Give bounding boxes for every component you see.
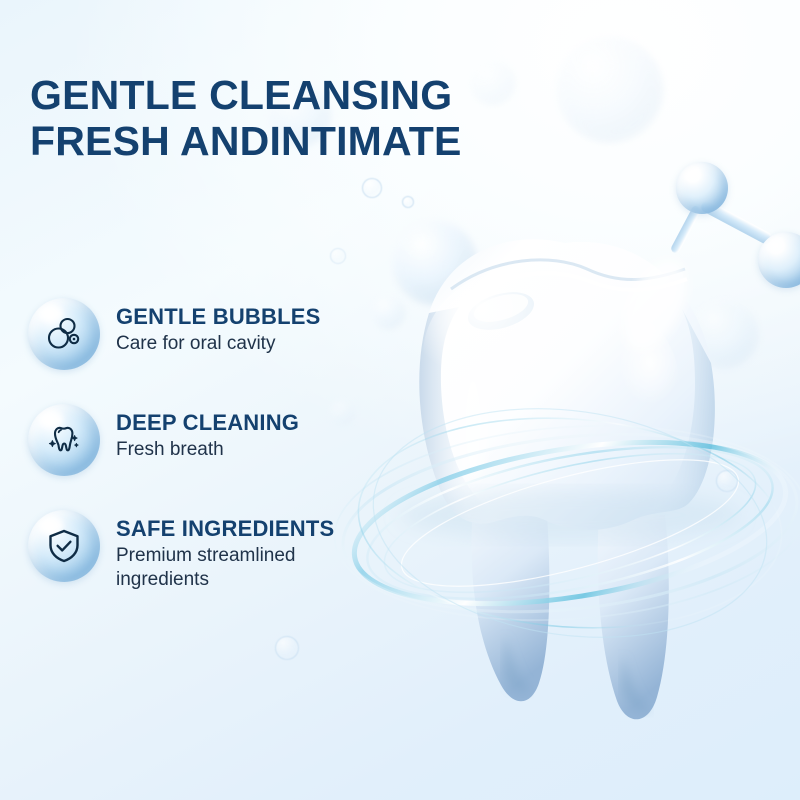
feature-item-gentle-bubbles: GENTLE BUBBLES Care for oral cavity — [28, 298, 428, 370]
feature-text: GENTLE BUBBLES Care for oral cavity — [116, 298, 320, 356]
tooth-sparkle-icon — [43, 419, 85, 461]
headline-line-1: GENTLE CLEANSING — [30, 72, 670, 118]
feature-title: GENTLE BUBBLES — [116, 304, 320, 329]
feature-list: GENTLE BUBBLES Care for oral cavity DEEP… — [28, 298, 428, 592]
background-bubble — [402, 196, 414, 208]
feature-subtitle: Premium streamlined ingredients — [116, 544, 366, 592]
headline-line-2: FRESH ANDINTIMATE — [30, 118, 670, 164]
tooth-sparkle-icon-badge — [28, 404, 100, 476]
feature-title: DEEP CLEANING — [116, 410, 299, 435]
shield-check-icon-badge — [28, 510, 100, 582]
headline: GENTLE CLEANSING FRESH ANDINTIMATE — [30, 72, 670, 164]
feature-title: SAFE INGREDIENTS — [116, 516, 366, 541]
background-bubble — [275, 636, 299, 660]
feature-text: DEEP CLEANING Fresh breath — [116, 404, 299, 462]
molecule-sphere — [676, 162, 728, 214]
feature-item-deep-cleaning: DEEP CLEANING Fresh breath — [28, 404, 428, 476]
feature-item-safe-ingredients: SAFE INGREDIENTS Premium streamlined ing… — [28, 510, 428, 592]
bubbles-icon — [43, 313, 85, 355]
background-bubble — [330, 248, 346, 264]
bubbles-icon-badge — [28, 298, 100, 370]
feature-subtitle: Fresh breath — [116, 438, 299, 462]
product-poster: GENTLE CLEANSING FRESH ANDINTIMATE GENTL… — [0, 0, 800, 800]
feature-subtitle: Care for oral cavity — [116, 332, 320, 356]
feature-text: SAFE INGREDIENTS Premium streamlined ing… — [116, 510, 366, 592]
background-bubble — [362, 178, 382, 198]
shield-check-icon — [44, 526, 84, 566]
